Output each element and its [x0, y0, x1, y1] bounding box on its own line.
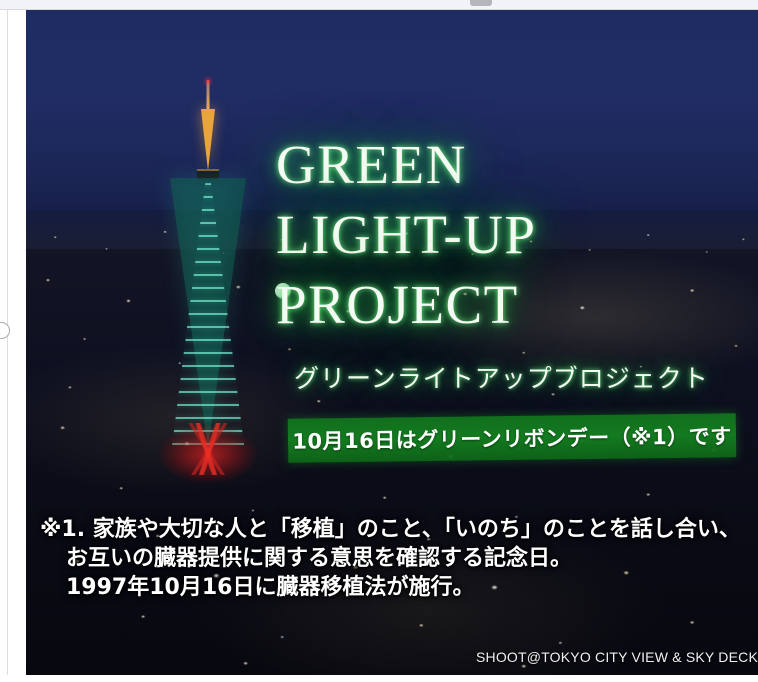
tower-antenna [207, 83, 210, 111]
banner-label: 10月16日はグリーンリボンデー（※1）です [292, 420, 732, 455]
tower-upper-section [201, 109, 215, 171]
footnote-line-1: ※1. 家族や大切な人と「移植」のこと、「いのち」のことを話し合い、 [40, 515, 752, 544]
headline: GREEN LIGHT-UP PROJECT [276, 130, 746, 340]
promotional-photo: GREEN LIGHT-UP PROJECT グリーンライトアップブロジェクト … [26, 10, 758, 675]
left-gutter [0, 9, 26, 682]
bottom-strip [0, 675, 758, 682]
headline-line-1: GREEN [276, 130, 746, 200]
tower-base-struts [156, 423, 260, 475]
top-scroll-strip [0, 0, 758, 10]
subtitle-japanese: グリーンライトアップブロジェクト [294, 359, 709, 395]
image-viewport: GREEN LIGHT-UP PROJECT グリーンライトアップブロジェクト … [0, 0, 758, 682]
gutter-divider [7, 9, 8, 682]
footnote-block: ※1. 家族や大切な人と「移植」のこと、「いのち」のことを話し合い、 お互いの臓… [40, 515, 752, 602]
top-drag-handle[interactable] [470, 0, 492, 6]
footnote-line-2: お互いの臓器提供に関する意思を確認する記念日。 [40, 544, 752, 573]
green-ribbon-day-banner: 10月16日はグリーンリボンデー（※1）です [288, 413, 737, 462]
headline-line-2: LIGHT-UP [276, 200, 746, 270]
footnote-line-3: 1997年10月16日に臓器移植法が施行。 [40, 573, 752, 602]
headline-line-3: PROJECT [276, 270, 746, 340]
photo-credit: SHOOT@TOKYO CITY VIEW & SKY DECK [476, 649, 758, 665]
tokyo-tower [143, 83, 273, 495]
